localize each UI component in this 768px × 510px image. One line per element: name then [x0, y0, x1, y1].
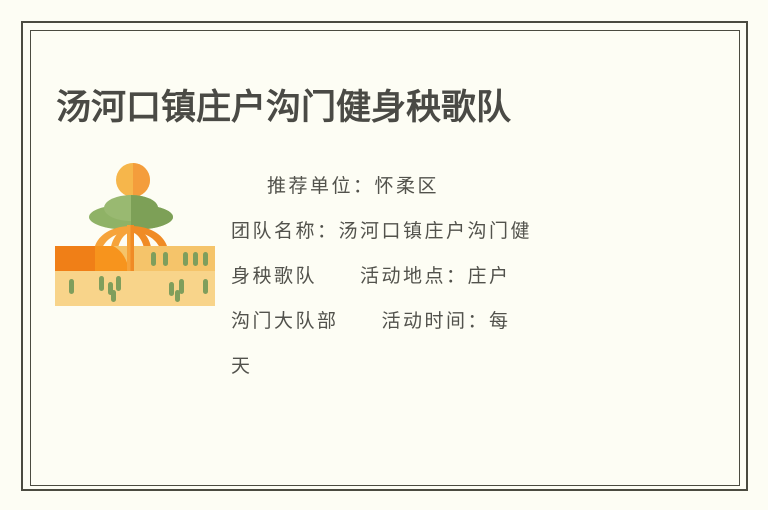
description-line-4: 沟门大队部 活动时间：每 — [231, 299, 661, 344]
description-line-1-text: 推荐单位：怀柔区 — [267, 175, 439, 197]
page-title: 汤河口镇庄户沟门健身秧歌队 — [56, 86, 511, 130]
savanna-landscape-icon — [55, 146, 215, 306]
team-description: 推荐单位：怀柔区 团队名称：汤河口镇庄户沟门健 身秧歌队 活动地点：庄户 沟门大… — [231, 164, 661, 389]
page-root: 汤河口镇庄户沟门健身秧歌队 — [0, 0, 768, 510]
card-body: 汤河口镇庄户沟门健身秧歌队 — [31, 31, 739, 485]
description-line-5: 天 — [231, 344, 661, 389]
description-line-3: 身秧歌队 活动地点：庄户 — [231, 254, 661, 299]
description-line-1: 推荐单位：怀柔区 — [231, 164, 661, 209]
description-line-2: 团队名称：汤河口镇庄户沟门健 — [231, 209, 661, 254]
